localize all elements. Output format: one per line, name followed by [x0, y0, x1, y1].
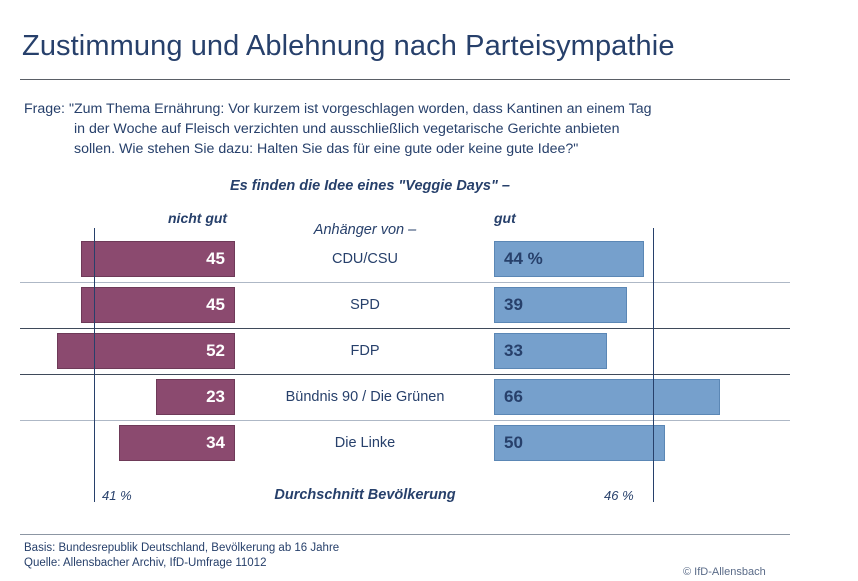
table-row: 45CDU/CSU44 % — [0, 236, 858, 282]
chart-plot-area: 45CDU/CSU44 %45SPD3952FDP3323Bündnis 90 … — [0, 236, 858, 468]
average-value-right: 46 % — [604, 488, 634, 503]
question-text: Frage: "Zum Thema Ernährung: Vor kurzem … — [24, 99, 784, 159]
bar-gut: 50 — [494, 425, 665, 461]
bar-nicht-gut: 45 — [81, 287, 235, 323]
average-line-right — [653, 228, 654, 502]
party-label: CDU/CSU — [245, 251, 485, 267]
average-line-left — [94, 228, 95, 502]
bar-gut: 33 — [494, 333, 607, 369]
question-line-3: sollen. Wie stehen Sie dazu: Halten Sie … — [24, 139, 784, 159]
table-row: 34Die Linke50 — [0, 420, 858, 466]
footer-basis-line: Basis: Bundesrepublik Deutschland, Bevöl… — [24, 541, 339, 556]
party-label: Die Linke — [245, 435, 485, 451]
column-header-nicht-gut: nicht gut — [168, 210, 227, 226]
table-row: 45SPD39 — [0, 282, 858, 328]
bar-nicht-gut: 23 — [156, 379, 235, 415]
bar-gut: 44 % — [494, 241, 644, 277]
party-label: SPD — [245, 297, 485, 313]
bar-value-nicht-gut: 23 — [206, 387, 225, 407]
footer-source-block: Basis: Bundesrepublik Deutschland, Bevöl… — [24, 541, 339, 570]
bar-value-gut: 33 — [504, 341, 523, 361]
table-row: 23Bündnis 90 / Die Grünen66 — [0, 374, 858, 420]
table-row: 52FDP33 — [0, 328, 858, 374]
average-value-left: 41 % — [102, 488, 132, 503]
footer-divider — [20, 534, 790, 535]
bar-value-nicht-gut: 45 — [206, 295, 225, 315]
chart-subtitle: Es finden die Idee eines "Veggie Days" – — [0, 178, 740, 194]
question-line-2: in der Woche auf Fleisch verzichten und … — [24, 119, 784, 139]
bar-value-gut: 39 — [504, 295, 523, 315]
bar-value-nicht-gut: 45 — [206, 249, 225, 269]
average-caption: Durchschnitt Bevölkerung — [205, 487, 525, 503]
bar-nicht-gut: 52 — [57, 333, 235, 369]
party-label: FDP — [245, 343, 485, 359]
footer-copyright: © IfD-Allensbach — [683, 566, 766, 578]
title-divider — [20, 79, 790, 80]
question-line-1: Frage: "Zum Thema Ernährung: Vor kurzem … — [24, 99, 784, 119]
bar-gut: 39 — [494, 287, 627, 323]
column-header-gut: gut — [494, 210, 516, 226]
bar-nicht-gut: 34 — [119, 425, 235, 461]
bar-value-gut: 50 — [504, 433, 523, 453]
bar-value-gut: 44 % — [504, 249, 543, 269]
bar-value-nicht-gut: 34 — [206, 433, 225, 453]
bar-nicht-gut: 45 — [81, 241, 235, 277]
footer-quelle-line: Quelle: Allensbacher Archiv, IfD-Umfrage… — [24, 556, 339, 571]
bar-gut: 66 — [494, 379, 720, 415]
bar-value-gut: 66 — [504, 387, 523, 407]
party-label: Bündnis 90 / Die Grünen — [245, 389, 485, 405]
page-title: Zustimmung und Ablehnung nach Parteisymp… — [22, 30, 675, 63]
bar-value-nicht-gut: 52 — [206, 341, 225, 361]
